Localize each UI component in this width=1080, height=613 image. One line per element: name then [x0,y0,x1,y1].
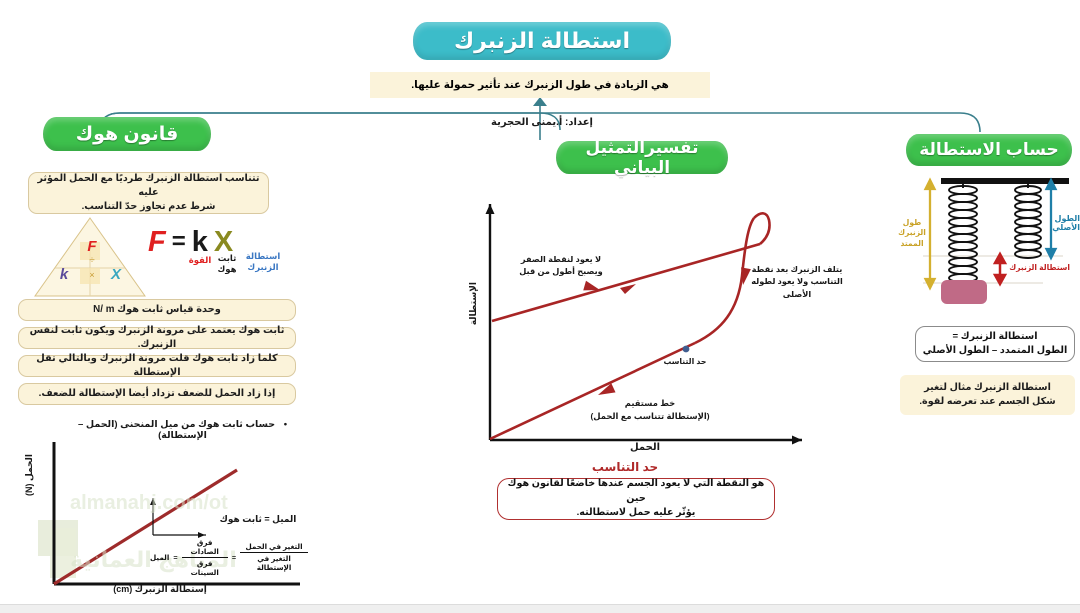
slope-eq-2: = [173,553,177,562]
credit-text: إعداد: أ.يمنى الحجرية [462,117,622,128]
calc-banner-label: حساب الاستطالة [919,140,1059,160]
calc-banner: حساب الاستطالة [906,134,1072,166]
slope-eq: = [232,553,236,562]
hooke-statement-line1: تتناسب استطالة الزنبرك طرديًا مع الحمل ا… [37,172,260,200]
limit-title: حد التناسب [545,460,705,474]
limit-box-line1: هو النقطة التي لا يعود الجسم عندها خاضعً… [498,477,774,507]
formula-X-label: استطالة الزنبرك [240,251,286,273]
mini-chart-ylabel: الحمل (N) [24,454,35,496]
hooke-fact-3: إذا زاد الحمل للضعف تزداد أيضا الإستطالة… [18,383,296,405]
calc-note-line1: استطالة الزنبرك مثال لتغير [924,381,1051,395]
limit-definition-box: هو النقطة التي لا يعود الجسم عندها خاضعً… [497,478,775,520]
mini-chart-slope-note: الميل = ثابت هوك [210,514,306,525]
triangle-op-bottom: × [83,270,101,280]
graph-point-label: حد التناسب [654,357,716,366]
spring-diagram: طول الزنبرك الممتد الطول الأصلي استطالة … [893,172,1080,312]
graph-annotation-right: يتلف الزنبرك بعد نقطة التناسب ولا يعود ل… [751,264,843,301]
formula-equals: = [172,228,186,256]
calc-formula-box: استطالة الزنبرك = الطول المتمدد – الطول … [915,326,1075,362]
slope-mid-num: فرق الصادات [182,538,228,558]
mindmap-canvas: استطالة الزنبرك هي الزيادة في طول الزنبر… [0,0,1080,613]
formula-k-label: ثابت هوك [212,253,242,275]
graph-banner-label: تفسيرالتمثيل البياني [556,138,728,178]
hooke-statement-box: تتناسب استطالة الزنبرك طرديًا مع الحمل ا… [28,172,269,214]
calc-note-box: استطالة الزنبرك مثال لتغير شكل الجسم عند… [900,375,1075,415]
main-title-banner: استطالة الزنبرك [413,22,671,60]
main-title-text: استطالة الزنبرك [454,28,630,54]
graph-annotation-bottom: خط مستقيم (الإستطالة تتناسب مع الحمل) [575,397,725,422]
hooke-mini-chart: almanahj.com/ot المناهج العمانية الحمل (… [10,432,310,604]
spring-label-extension: استطالة الزنبرك [1006,263,1070,272]
hooke-fact-0: وحدة قياس ثابت هوك N/ m [18,299,296,321]
hooke-statement-line2: شرط عدم تجاوز حدّ التناسب. [82,200,216,214]
calc-note-line2: شكل الجسم عند تعرضه لقوة. [919,395,1055,409]
slope-right-den: التغير في الإستطالة [240,553,308,572]
graph-ylabel: الإستطالة [468,282,478,325]
main-graph: الإستطالة الحمل لا يعود لنقطة الصفر ويصب… [470,190,810,455]
triangle-F: F [83,238,101,255]
mini-chart-xlabel: إستطالة الزنبرك (cm) [65,584,255,595]
definition-box: هي الزيادة في طول الزنبرك عند تأثير حمول… [370,72,710,98]
hooke-banner-label: قانون هوك [76,123,179,146]
triangle-op-top: ÷ [83,255,101,266]
graph-xlabel: الحمل [590,442,700,453]
spring-label-extended: طول الزنبرك الممتد [892,218,932,249]
slope-right-num: التغير في الحمل [240,542,308,553]
mini-chart-slope-formula: التغير في الحمل التغير في الإستطالة = فر… [150,540,308,574]
formula-k: k [192,226,208,259]
formula-F: F [148,226,166,259]
spring-label-original: الطول الأصلي [1058,214,1080,232]
triangle-X: X [107,266,125,283]
hooke-fact-1: ثابت هوك يعتمد على مرونة الزنبرك ويكون ث… [18,327,296,349]
definition-text: هي الزيادة في طول الزنبرك عند تأثير حمول… [411,79,669,91]
bullet-dot: • [284,419,287,430]
slope-mid-den: فرق السينات [182,558,228,577]
graph-annotation-left: لا يعود لنقطة الصفر ويصبح أطول من قبل [498,254,624,279]
hooke-fact-2: كلما زاد ثابت هوك قلت مرونة الزنبرك وبال… [18,355,296,377]
calc-formula-line1: استطالة الزنبرك = [952,330,1037,344]
limit-box-line2: يؤثّر عليه حمل لاستطالته. [577,506,696,521]
hooke-triangle: F ÷ k × X [33,216,148,298]
slope-left-label: الميل [150,553,169,562]
hooke-banner: قانون هوك [43,117,211,151]
footer-bar [0,604,1080,613]
triangle-k: k [55,266,73,283]
calc-formula-line2: الطول المتمدد – الطول الأصلي [923,344,1068,358]
graph-banner: تفسيرالتمثيل البياني [556,141,728,174]
